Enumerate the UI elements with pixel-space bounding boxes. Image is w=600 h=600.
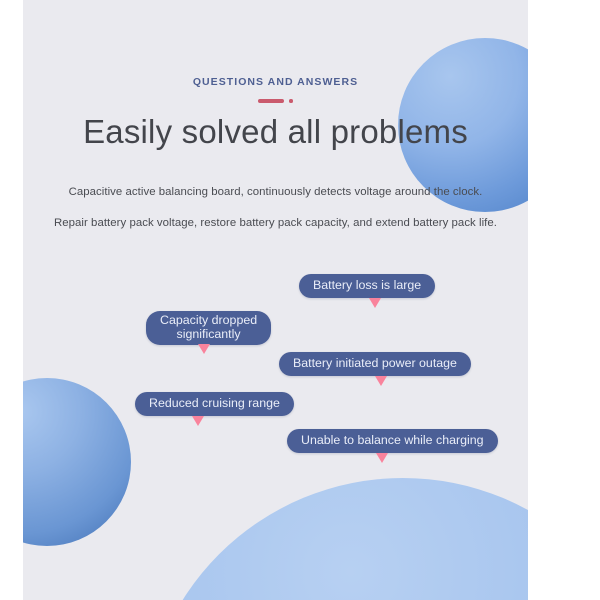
subtitle-line-2: Repair battery pack voltage, restore bat… <box>23 217 528 229</box>
page-title: Easily solved all problems <box>23 113 528 151</box>
pointer-triangle-icon-cruising-range <box>192 416 204 426</box>
problem-pill-power-outage[interactable]: Battery initiated power outage <box>279 352 471 376</box>
problem-pill-balance-charging[interactable]: Unable to balance while charging <box>287 429 498 453</box>
pointer-triangle-icon-power-outage <box>375 376 387 386</box>
subtitle-line-1: Capacitive active balancing board, conti… <box>23 186 528 198</box>
accent-rule <box>23 97 528 105</box>
accent-dash-icon <box>258 99 284 103</box>
promo-banner: QUESTIONS AND ANSWERS Easily solved all … <box>0 0 600 600</box>
banner-content: QUESTIONS AND ANSWERS Easily solved all … <box>23 0 528 600</box>
pointer-triangle-icon-balance-charging <box>376 453 388 463</box>
pointer-triangle-icon-battery-loss <box>369 298 381 308</box>
pointer-triangle-icon-capacity-dropped <box>198 344 210 354</box>
accent-dot-icon <box>289 99 293 103</box>
banner-canvas: QUESTIONS AND ANSWERS Easily solved all … <box>23 0 528 600</box>
problem-pill-cruising-range[interactable]: Reduced cruising range <box>135 392 294 416</box>
problem-pill-battery-loss[interactable]: Battery loss is large <box>299 274 435 298</box>
section-eyebrow: QUESTIONS AND ANSWERS <box>23 76 528 88</box>
problem-pill-capacity-dropped[interactable]: Capacity dropped significantly <box>146 311 271 345</box>
